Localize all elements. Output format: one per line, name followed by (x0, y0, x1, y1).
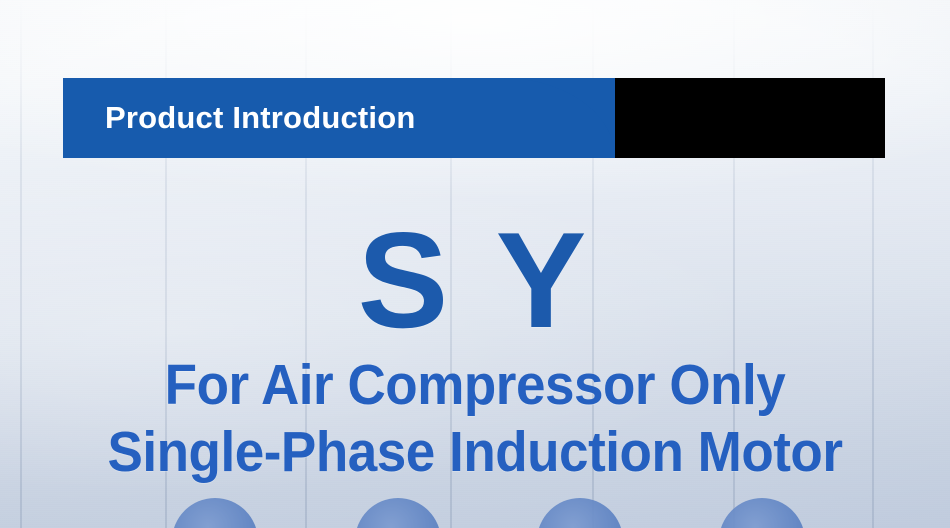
product-thumb-circle (172, 498, 258, 528)
product-thumb-circle (355, 498, 441, 528)
product-thumb-circle (719, 498, 805, 528)
product-model-name: S Y (0, 218, 950, 343)
product-circle-row (0, 498, 950, 528)
product-type-line: Single-Phase Induction Motor (33, 424, 917, 481)
product-application-line: For Air Compressor Only (33, 357, 917, 414)
product-thumb-circle (537, 498, 623, 528)
section-header-banner: Product Introduction (63, 78, 885, 158)
slide-canvas: Product Introduction S Y For Air Compres… (0, 0, 950, 528)
section-title: Product Introduction (105, 78, 416, 158)
hero-text-block: S Y For Air Compressor Only Single-Phase… (0, 218, 950, 481)
